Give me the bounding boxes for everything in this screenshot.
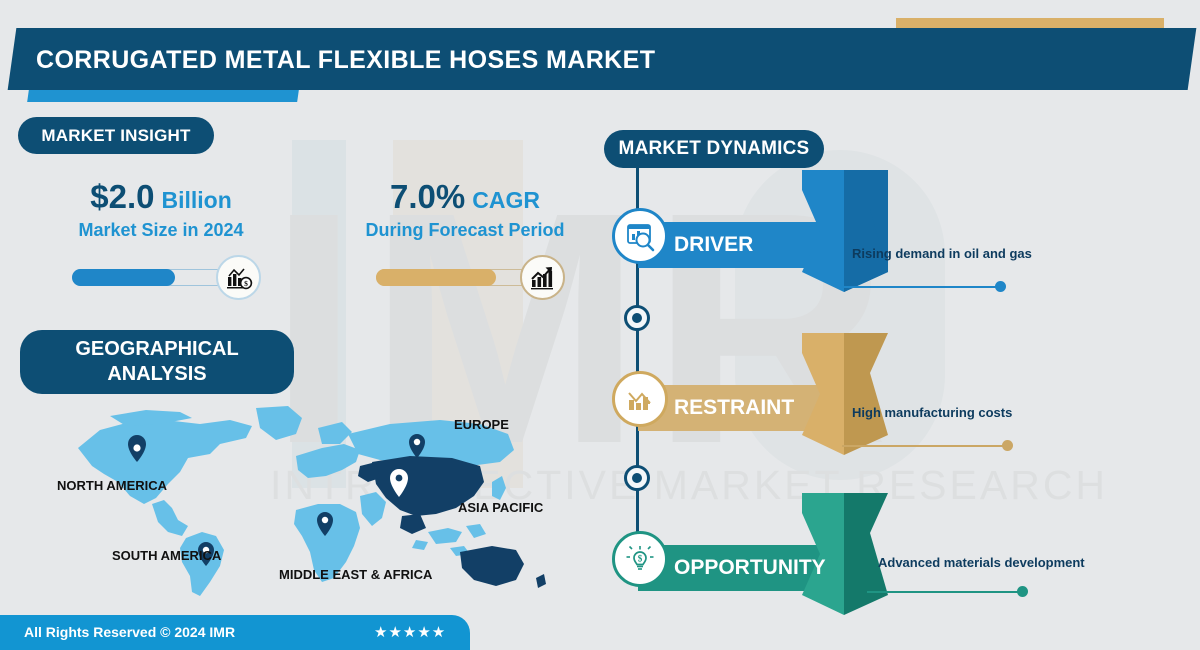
world-map: NORTH AMERICA EUROPE ASIA PACIFIC SOUTH … [60, 400, 590, 600]
report-magnifier-icon [612, 208, 668, 264]
opportunity-label: OPPORTUNITY [674, 545, 826, 591]
opportunity-leader-dot [1017, 586, 1028, 597]
stat-progress [340, 255, 590, 299]
lightbulb-dollar-icon: $ [612, 531, 668, 587]
restraint-label: RESTRAINT [674, 385, 794, 431]
map-label-middle-east-africa: MIDDLE EAST & AFRICA [279, 567, 432, 582]
stat-subtitle: Market Size in 2024 [36, 220, 286, 241]
opportunity-leader-line [867, 591, 1022, 593]
stat-market-size: $2.0Billion Market Size in 2024 $ [36, 178, 286, 299]
geo-pill-line1: GEOGRAPHICAL [75, 337, 238, 362]
map-label-north-america: NORTH AMERICA [57, 478, 167, 493]
progress-fill [376, 269, 496, 286]
page-title: CORRUGATED METAL FLEXIBLE HOSES MARKET [36, 40, 655, 80]
svg-text:$: $ [638, 554, 643, 564]
restraint-chevron-icon [802, 333, 888, 455]
declining-bar-chart-icon [612, 371, 668, 427]
header-accent-bar [27, 90, 299, 102]
driver-leader-dot [995, 281, 1006, 292]
footer-copyright: All Rights Reserved © 2024 IMR [24, 615, 235, 650]
stat-progress: $ [36, 255, 286, 299]
footer-bar: All Rights Reserved © 2024 IMR ★★★★★ [0, 615, 470, 650]
stat-cagr: 7.0%CAGR During Forecast Period [340, 178, 590, 299]
stat-value: 7.0% [390, 178, 465, 215]
growth-arrow-chart-icon [520, 255, 565, 300]
stat-headline: 7.0%CAGR [340, 178, 590, 216]
restraint-note: High manufacturing costs [852, 405, 1012, 420]
driver-label: DRIVER [674, 222, 753, 268]
stat-value: $2.0 [90, 178, 154, 215]
stat-headline: $2.0Billion [36, 178, 286, 216]
stat-unit: CAGR [472, 187, 540, 213]
map-label-asia-pacific: ASIA PACIFIC [458, 500, 543, 515]
geographical-analysis-pill: GEOGRAPHICAL ANALYSIS [20, 330, 294, 394]
driver-leader-line [842, 286, 1000, 288]
bar-chart-dollar-icon: $ [216, 255, 261, 300]
market-insight-pill: MARKET INSIGHT [18, 117, 214, 154]
spine-node-2 [624, 465, 650, 491]
market-insight-label: MARKET INSIGHT [41, 126, 190, 146]
progress-fill [72, 269, 175, 286]
infographic-canvas: IMR INTROSPECTIVE MARKET RESEARCH CORRUG… [0, 0, 1200, 650]
market-dynamics-pill: MARKET DYNAMICS [604, 130, 824, 168]
map-label-europe: EUROPE [454, 417, 509, 432]
driver-chevron-icon [802, 170, 888, 292]
market-dynamics-label: MARKET DYNAMICS [619, 138, 810, 160]
stat-unit: Billion [161, 187, 231, 213]
restraint-leader-dot [1002, 440, 1013, 451]
opportunity-note: Advanced materials development [878, 555, 1085, 570]
driver-note: Rising demand in oil and gas [852, 246, 1032, 261]
svg-text:$: $ [244, 279, 248, 288]
restraint-leader-line [842, 445, 1007, 447]
footer-stars: ★★★★★ [374, 615, 446, 650]
spine-node-1 [624, 305, 650, 331]
map-label-south-america: SOUTH AMERICA [112, 548, 221, 563]
geo-pill-line2: ANALYSIS [107, 362, 206, 387]
stat-subtitle: During Forecast Period [340, 220, 590, 241]
